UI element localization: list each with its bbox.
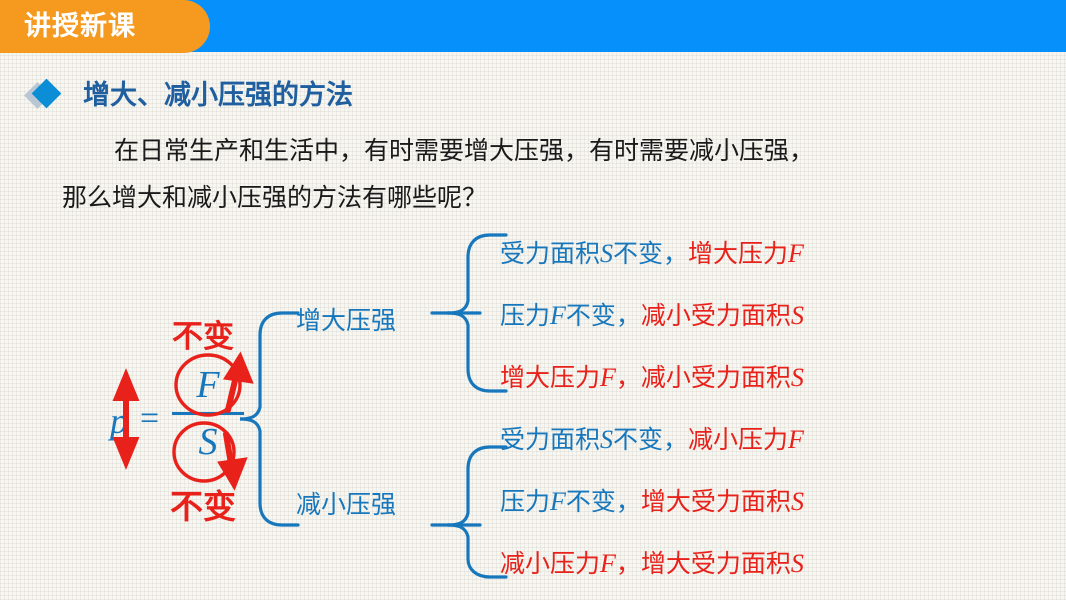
leaf-item: 受力面积S不变，增大压力F: [500, 238, 804, 270]
leaf-text: 不变，: [566, 302, 641, 330]
formula-fraction: F S: [172, 360, 244, 467]
formula-symbol-p: p: [110, 400, 128, 442]
leaf-text: 减小压力: [500, 550, 600, 578]
leaf-text: ，减小受力面积: [616, 364, 791, 392]
page-title: 增大、减小压强的方法: [83, 76, 353, 114]
leaf-symbol: F: [550, 487, 566, 516]
leaf-symbol: S: [791, 301, 804, 330]
intro-paragraph: 在日常生产和生活中，有时需要增大压强，有时需要减小压强， 那么增大和减小压强的方…: [62, 128, 1012, 222]
header-tag-label: 讲授新课: [24, 8, 136, 44]
leaf-item: 压力F不变，增大受力面积S: [500, 486, 804, 518]
tree-connectors: [240, 225, 540, 585]
sub-brace-increase-down: [448, 313, 506, 391]
leaf-symbol: F: [600, 363, 616, 392]
sub-brace-decrease-up: [448, 447, 506, 525]
header-tag-pill: 讲授新课: [0, 0, 210, 53]
sub-brace-increase-up: [448, 235, 506, 313]
leaf-text: 受力面积: [500, 240, 600, 268]
formula-denominator-S: S: [172, 417, 244, 467]
intro-line-1: 在日常生产和生活中，有时需要增大压强，有时需要减小压强，: [114, 137, 814, 165]
header-bar: 讲授新课: [0, 0, 1066, 53]
leaf-text: ，增大受力面积: [616, 550, 791, 578]
leaf-symbol: F: [600, 549, 616, 578]
leaf-item: 受力面积S不变，减小压力F: [500, 424, 804, 456]
formula-numerator-F: F: [172, 360, 244, 410]
leaf-text: 不变，: [613, 240, 688, 268]
sub-brace-decrease-down: [448, 525, 506, 577]
formula-equals: =: [140, 400, 159, 438]
branch-label-decrease: 减小压强: [296, 489, 396, 521]
leaf-symbol: F: [788, 239, 804, 268]
intro-line-2: 那么增大和减小压强的方法有哪些呢？: [62, 184, 487, 212]
leaf-symbol: S: [791, 487, 804, 516]
leaf-symbol: S: [600, 425, 613, 454]
leaf-symbol: S: [791, 549, 804, 578]
formula-fraction-bar: [172, 412, 244, 415]
leaf-item: 增大压力F，减小受力面积S: [500, 362, 804, 394]
leaf-text: 压力: [500, 488, 550, 516]
main-brace-lower: [240, 419, 298, 525]
leaf-item: 压力F不变，减小受力面积S: [500, 300, 804, 332]
leaf-symbol: F: [788, 425, 804, 454]
leaf-text: 增大受力面积: [641, 488, 791, 516]
main-brace: [240, 313, 298, 419]
leaf-symbol: F: [550, 301, 566, 330]
leaf-text: 增大压力: [688, 240, 788, 268]
leaf-text: 增大压力: [500, 364, 600, 392]
leaf-symbol: S: [600, 239, 613, 268]
leaf-symbol: S: [791, 363, 804, 392]
leaf-text: 受力面积: [500, 426, 600, 454]
branch-label-increase: 增大压强: [296, 305, 396, 337]
slide-canvas: 讲授新课 增大、减小压强的方法 在日常生产和生活中，有时需要增大压强，有时需要减…: [0, 0, 1066, 600]
leaf-item: 减小压力F，增大受力面积S: [500, 548, 804, 580]
leaf-text: 压力: [500, 302, 550, 330]
leaf-text: 减小受力面积: [641, 302, 791, 330]
leaf-text: 不变，: [566, 488, 641, 516]
leaf-text: 减小压力: [688, 426, 788, 454]
leaf-text: 不变，: [613, 426, 688, 454]
